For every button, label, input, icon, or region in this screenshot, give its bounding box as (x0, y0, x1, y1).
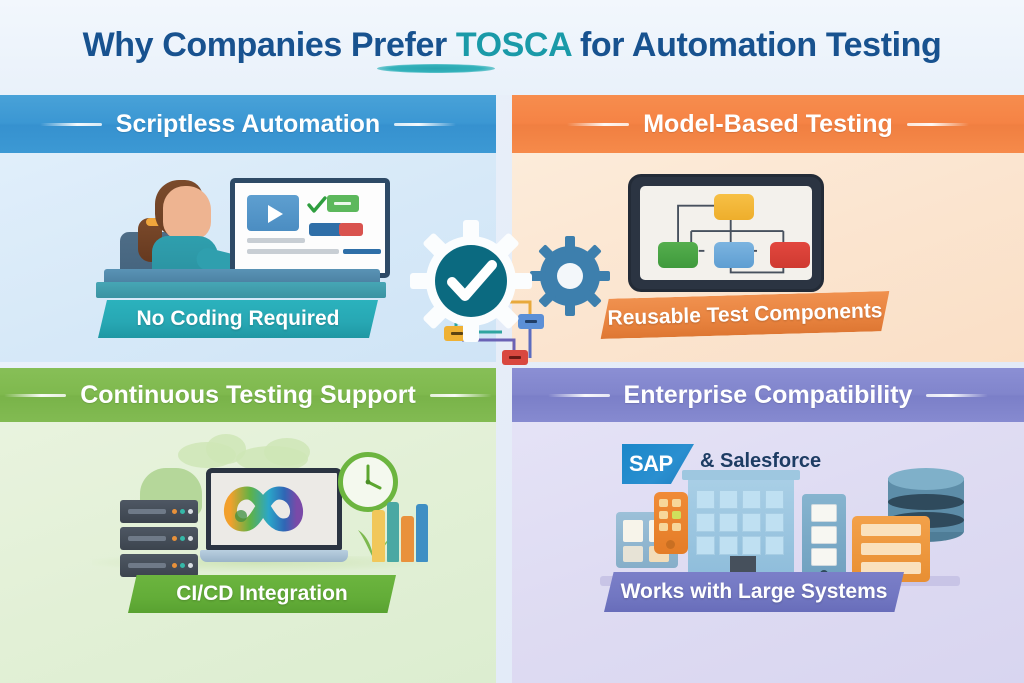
quadrant-banner-enterprise: Enterprise Compatibility (512, 368, 1024, 422)
quadrant-banner-model-based: Model-Based Testing (512, 95, 1024, 153)
banner-dash-right (394, 123, 456, 126)
infographic-poster: Why Companies Prefer TOSCA for Automatio… (0, 0, 1024, 683)
laptop-device (200, 468, 348, 564)
title-suffix: for Automation Testing (571, 26, 941, 64)
tablet-screen (640, 186, 812, 280)
sap-logo-text: SAP (622, 451, 673, 477)
ribbon-cicd-integration: CI/CD Integration (128, 575, 396, 613)
quadrant-heading-enterprise: Enterprise Compatibility (624, 381, 913, 410)
gear-icon-white-check-badge (410, 220, 532, 342)
quadrant-heading-continuous: Continuous Testing Support (80, 381, 416, 410)
banner-dash-right (907, 123, 969, 126)
flowchart-node-yellow (714, 194, 754, 220)
banner-dash-right (926, 394, 988, 397)
devops-infinity-icon (211, 473, 337, 545)
text-line-shape (247, 249, 339, 254)
title-bar: Why Companies Prefer TOSCA for Automatio… (0, 0, 1024, 95)
flowchart-node-green (658, 242, 698, 268)
text-line-shape (247, 238, 305, 243)
server-unit (120, 554, 198, 577)
banner-dash-left (4, 394, 66, 397)
flowchart-node-blue (714, 242, 754, 268)
server-unit (120, 500, 198, 523)
ribbon-reusable-test-components: Reusable Test Components (599, 291, 890, 339)
title-highlight: TOSCA (456, 26, 571, 64)
book-shape (416, 504, 428, 562)
banner-dash-right (430, 394, 492, 397)
desk-front-shape (96, 282, 386, 298)
office-building (688, 478, 794, 582)
cloud-shape (264, 438, 310, 466)
quadrant-banner-continuous: Continuous Testing Support (0, 368, 496, 422)
title-prefix: Why Companies Prefer (83, 26, 456, 64)
book-shape (401, 516, 414, 562)
title-underline-swoosh (377, 64, 495, 73)
page-title: Why Companies Prefer TOSCA for Automatio… (83, 26, 942, 65)
ribbon-no-coding-required: No Coding Required (98, 300, 378, 338)
red-tag-shape (339, 223, 363, 236)
tablet-device (628, 174, 824, 292)
building-roof (682, 470, 800, 480)
head-shape (163, 186, 211, 240)
book-shape (372, 510, 385, 562)
quadrant-banner-scriptless: Scriptless Automation (0, 95, 496, 153)
laptop-screen (206, 468, 342, 550)
monitor-screen (230, 178, 390, 278)
ribbon-works-with-large-systems: Works with Large Systems (604, 572, 904, 612)
quadrant-heading-model-based: Model-Based Testing (643, 110, 893, 139)
blue-tag-shape (309, 223, 343, 236)
banner-dash-left (40, 123, 102, 126)
check-icon (307, 196, 327, 214)
server-stack (120, 500, 198, 578)
text-line-shape (343, 249, 381, 254)
server-unit (120, 527, 198, 550)
mobile-device-orange (654, 492, 688, 554)
book-shape (387, 502, 399, 562)
green-tag-shape (327, 195, 359, 212)
flowchart-node-red (770, 242, 810, 268)
server-tower-blue (802, 494, 846, 582)
video-play-panel (247, 195, 299, 231)
laptop-base (200, 550, 348, 562)
quadrant-heading-scriptless: Scriptless Automation (116, 110, 380, 139)
books-stack (372, 500, 432, 562)
banner-dash-left (567, 123, 629, 126)
banner-dash-left (548, 394, 610, 397)
play-icon (268, 205, 283, 223)
